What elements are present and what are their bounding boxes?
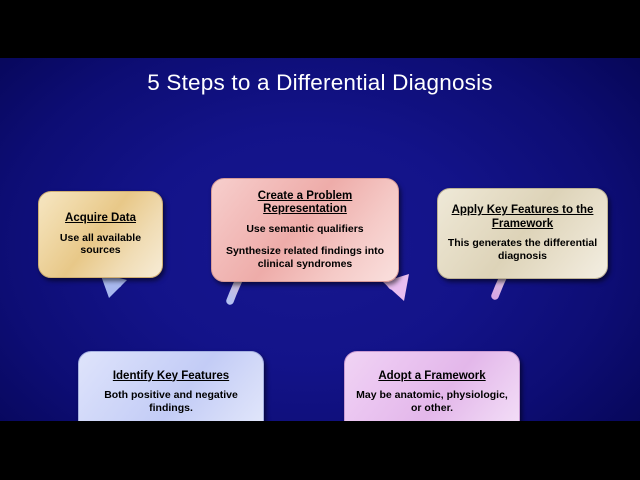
step-heading: Identify Key Features [113, 370, 229, 384]
page-title: 5 Steps to a Differential Diagnosis [0, 70, 640, 96]
step-body-line: May be anatomic, physiologic, or other. [353, 389, 511, 414]
step-heading: Acquire Data [65, 212, 136, 226]
step-heading: Apply Key Features to the Framework [446, 204, 599, 231]
step-body-line: Synthesize related findings into clinica… [220, 245, 390, 270]
step-box-create-problem-representation[interactable]: Create a Problem Representation Use sema… [211, 178, 399, 282]
slide-canvas: 5 Steps to a Differential Diagnosis [0, 58, 640, 421]
step-heading: Create a Problem Representation [220, 190, 390, 217]
step-body-line: Both positive and negative findings. [87, 389, 255, 414]
step-box-apply-key-features[interactable]: Apply Key Features to the Framework This… [437, 188, 608, 279]
letterbox-bottom [0, 421, 640, 480]
slide-stage: 5 Steps to a Differential Diagnosis [0, 0, 640, 480]
step-body-line: This generates the differential diagnosi… [446, 237, 599, 262]
step-body-line: Use semantic qualifiers [246, 223, 363, 236]
step-box-acquire-data[interactable]: Acquire Data Use all available sources [38, 191, 163, 278]
letterbox-top [0, 0, 640, 58]
step-body-line: Use all available sources [47, 232, 154, 257]
step-heading: Adopt a Framework [378, 370, 485, 384]
